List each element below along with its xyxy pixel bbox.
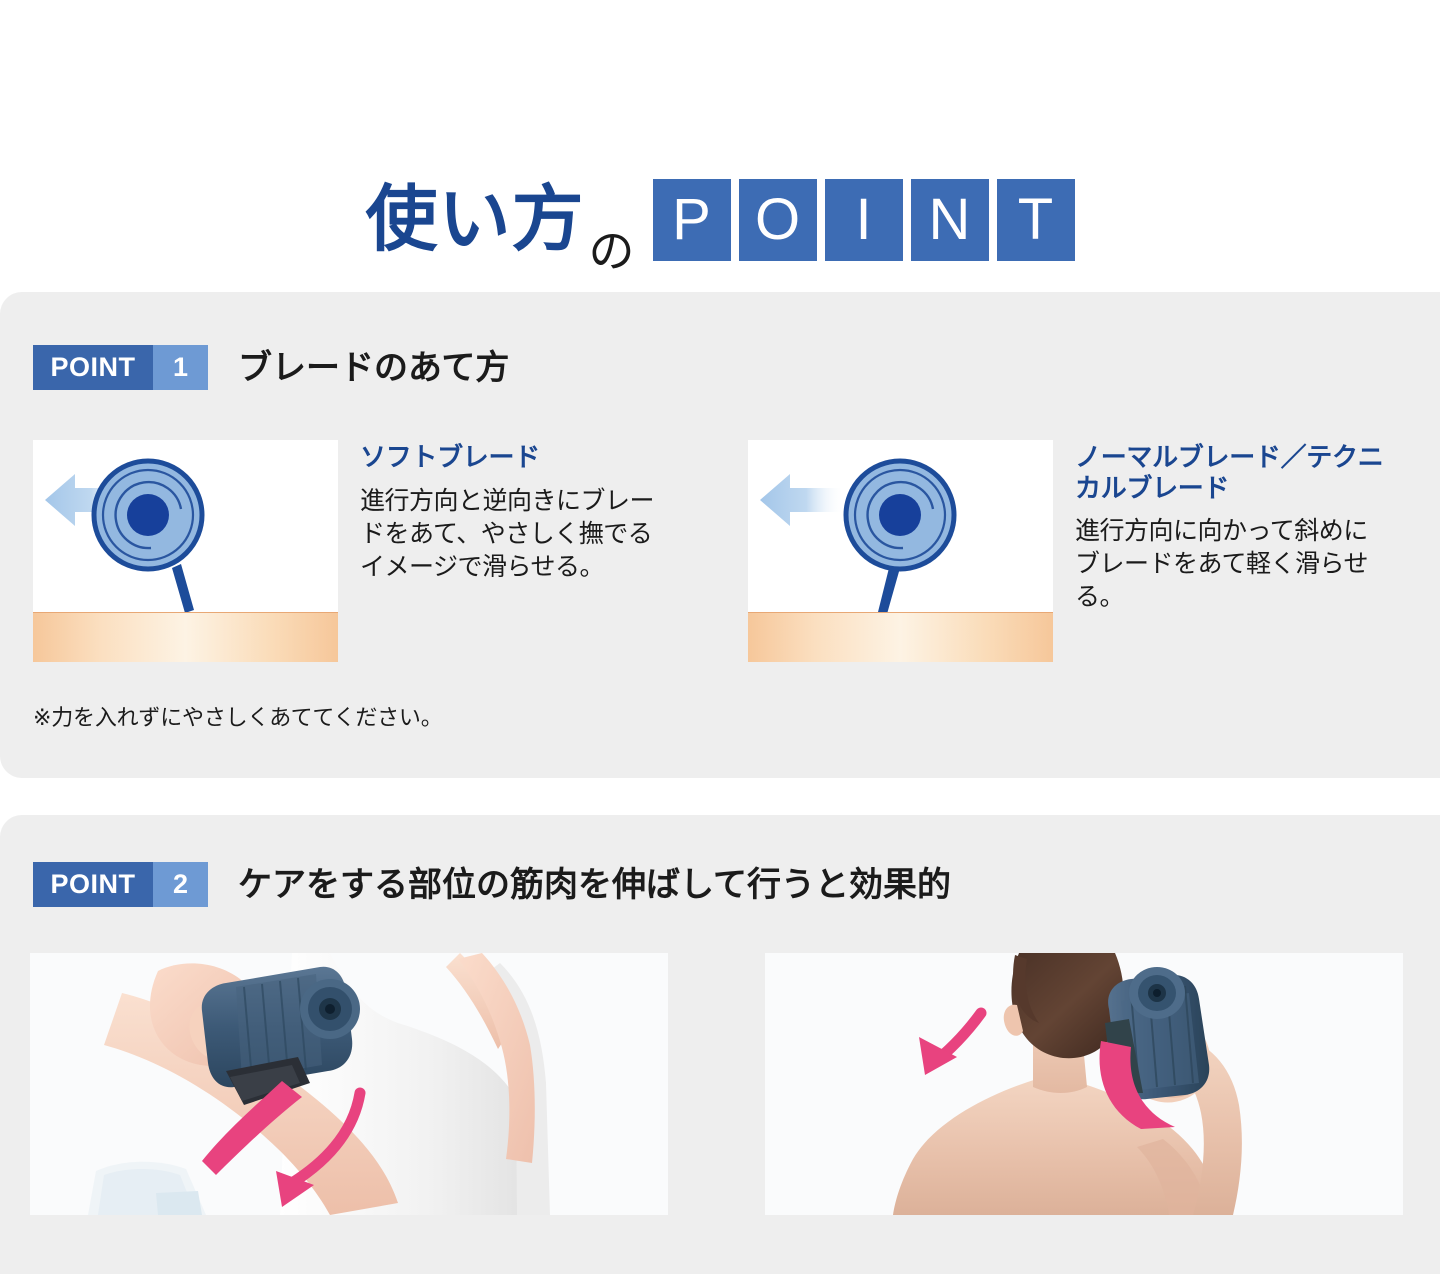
normal-blade-heading: ノーマルブレード／テクニカルブレード [1075, 442, 1385, 503]
point1-heading-row: POINT 1 ブレードのあて方 [33, 345, 509, 390]
left-arrow-icon [760, 474, 844, 526]
normal-blade-angle-illustration [748, 440, 1053, 662]
blade-head-graphic [94, 461, 202, 613]
point-tile-p: P [653, 179, 731, 261]
page-title-particle: の [589, 228, 635, 280]
point1-column-normal-blade: ノーマルブレード／テクニカルブレード 進行方向に向かって斜めにブレードをあて軽く… [748, 440, 1385, 662]
neck-shoulder-care-photo [765, 953, 1403, 1215]
point-tile-t: T [997, 179, 1075, 261]
page-title: 使い方 の P O I N T [0, 160, 1440, 280]
point1-badge-label: POINT [33, 345, 153, 390]
point-letter-tiles: P O I N T [653, 179, 1075, 261]
point-tile-i: I [825, 179, 903, 261]
point1-badge: POINT 1 [33, 345, 208, 390]
point2-badge-number: 2 [153, 862, 208, 907]
point1-badge-number: 1 [153, 345, 208, 390]
skin-surface-band [748, 612, 1053, 662]
arm-care-photo [30, 953, 668, 1215]
soft-blade-angle-illustration [33, 440, 338, 662]
page-title-japanese: 使い方 [365, 184, 584, 256]
normal-blade-body: 進行方向に向かって斜めにブレードをあて軽く滑らせる。 [1075, 515, 1385, 614]
point-tile-n: N [911, 179, 989, 261]
point1-note: ※力を入れずにやさしくあててください。 [33, 700, 443, 732]
soft-blade-body: 進行方向と逆向きにブレードをあて、やさしく撫でるイメージで滑らせる。 [360, 485, 670, 584]
soft-blade-text: ソフトブレード 進行方向と逆向きにブレードをあて、やさしく撫でるイメージで滑らせ… [360, 440, 670, 662]
skin-surface-band [33, 612, 338, 662]
point1-column-soft-blade: ソフトブレード 進行方向と逆向きにブレードをあて、やさしく撫でるイメージで滑らせ… [33, 440, 670, 662]
point2-title: ケアをする部位の筋肉を伸ばして行うと効果的 [238, 868, 951, 902]
point1-title: ブレードのあて方 [238, 351, 509, 385]
point2-heading-row: POINT 2 ケアをする部位の筋肉を伸ばして行うと効果的 [33, 862, 951, 907]
point-tile-o: O [739, 179, 817, 261]
blade-head-graphic [846, 461, 954, 614]
point2-badge: POINT 2 [33, 862, 208, 907]
soft-blade-heading: ソフトブレード [360, 442, 670, 473]
normal-blade-text: ノーマルブレード／テクニカルブレード 進行方向に向かって斜めにブレードをあて軽く… [1075, 440, 1385, 662]
point2-badge-label: POINT [33, 862, 153, 907]
